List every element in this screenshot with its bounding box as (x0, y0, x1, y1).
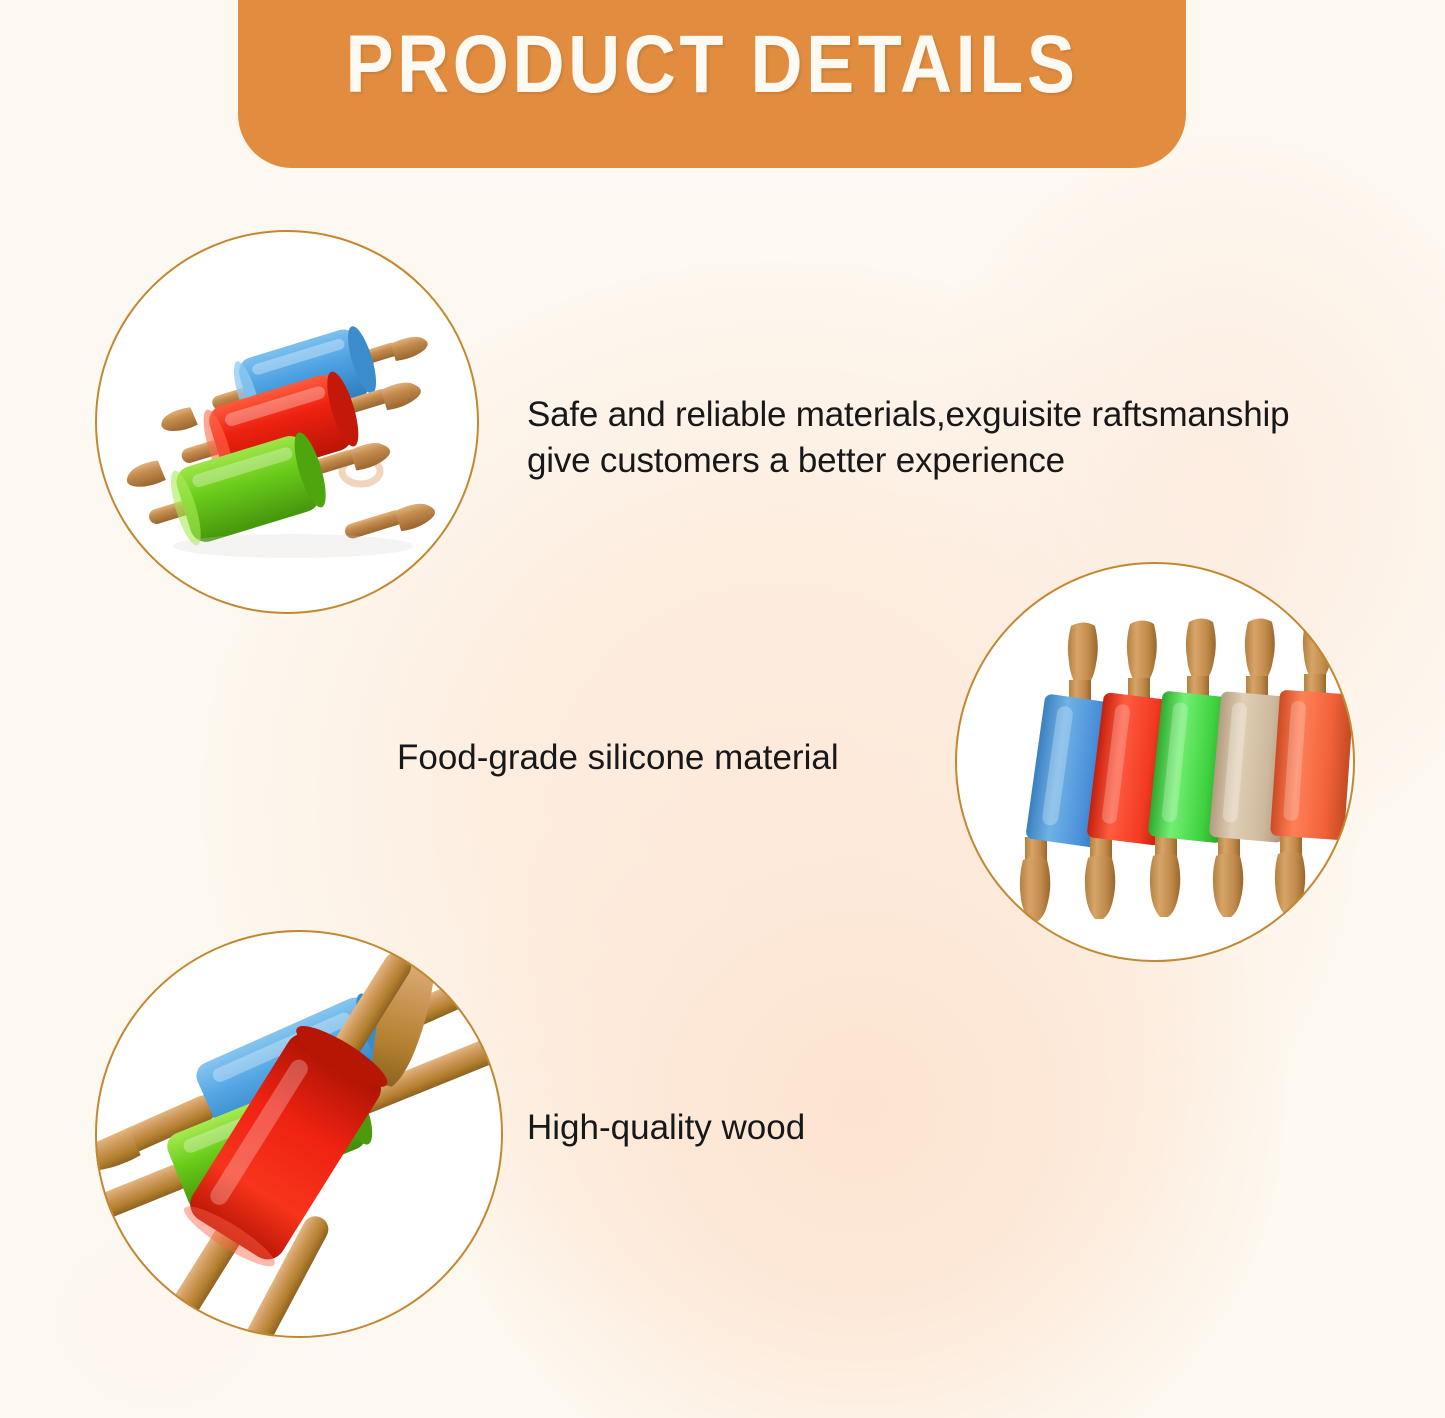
product-photo-pins-closeup (93, 928, 505, 1340)
feature-caption-silicone: Food-grade silicone material (397, 735, 839, 781)
feature-caption-materials: Safe and reliable materials,exguisite ra… (527, 392, 1437, 483)
feature-caption-wood: High-quality wood (527, 1105, 805, 1151)
header-banner: PRODUCT DETAILS (238, 0, 1186, 168)
page-title: PRODUCT DETAILS (295, 18, 1129, 112)
product-photo-five-pins-row (953, 560, 1357, 964)
product-photo-three-pins-stacked (93, 228, 481, 616)
product-details-page: PRODUCT DETAILS (0, 0, 1445, 1418)
